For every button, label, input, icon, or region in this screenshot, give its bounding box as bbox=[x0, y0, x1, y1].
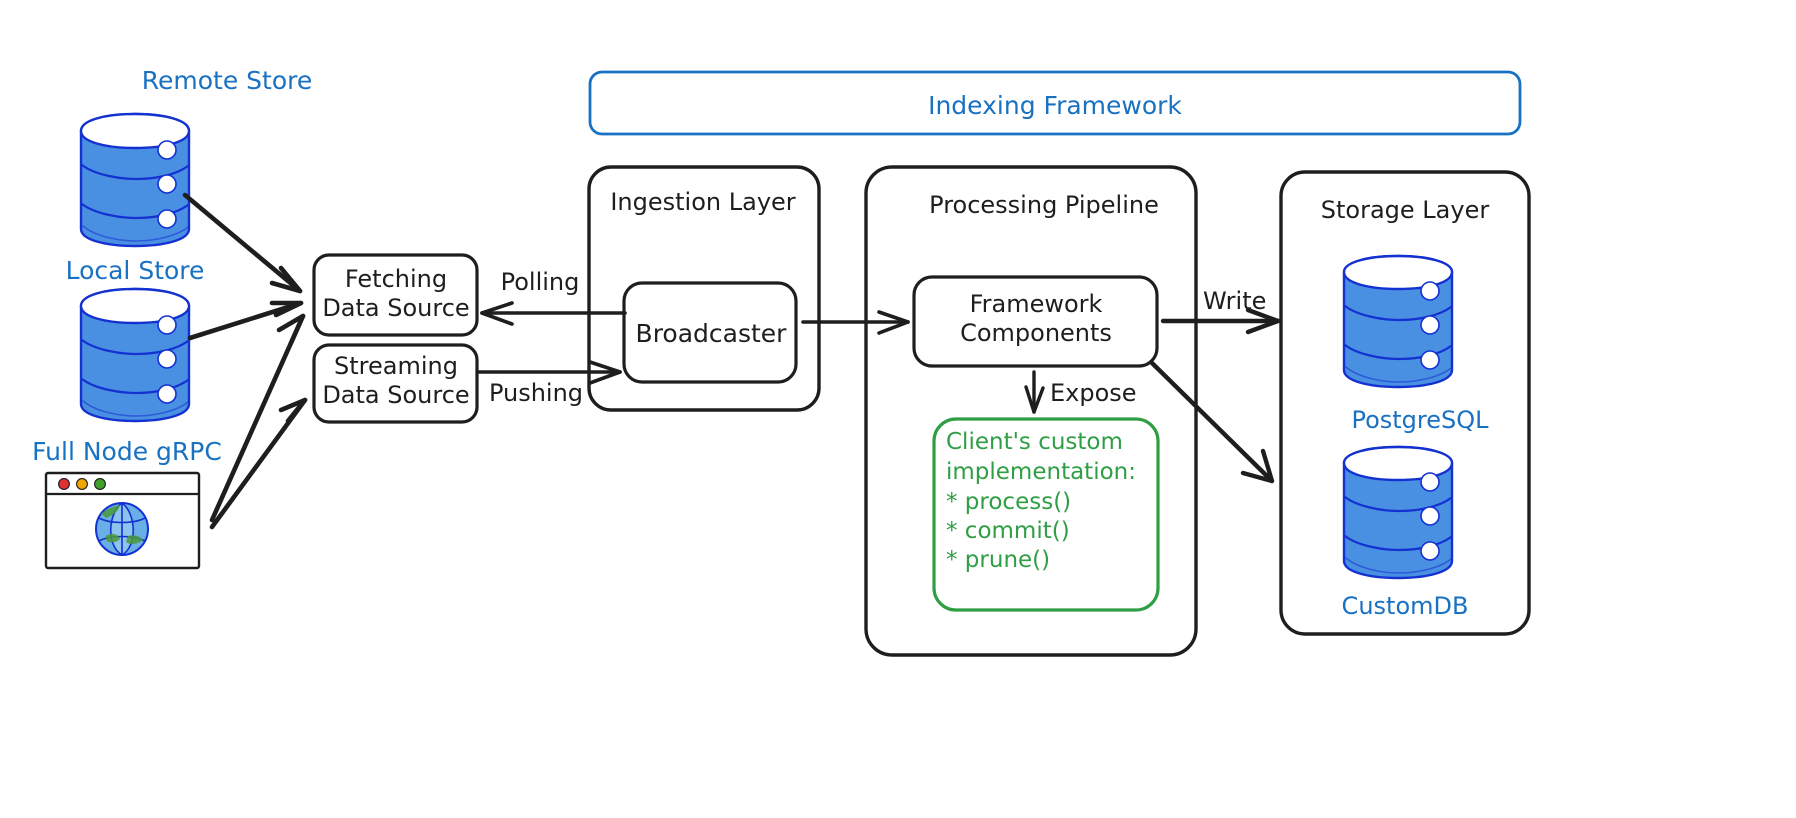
full-node-grpc-label: Full Node gRPC bbox=[32, 437, 222, 468]
custom-impl-commit: * commit() bbox=[946, 517, 1070, 545]
custom-impl-line2: implementation: bbox=[946, 458, 1136, 486]
fetching-data-source-line1: Fetching bbox=[345, 265, 447, 294]
globe-icon bbox=[96, 503, 148, 555]
polling-edge-label: Polling bbox=[501, 268, 580, 297]
local-store-cylinder bbox=[81, 289, 189, 421]
postgresql-cylinder bbox=[1344, 256, 1452, 387]
local-store-label: Local Store bbox=[66, 256, 205, 287]
ingestion-layer-title: Ingestion Layer bbox=[610, 188, 795, 217]
custom-impl-prune: * prune() bbox=[946, 546, 1050, 574]
write-edge-label: Write bbox=[1203, 287, 1266, 316]
remote-store-label: Remote Store bbox=[142, 66, 312, 97]
arrow-local-to-fetching bbox=[190, 303, 301, 338]
processing-pipeline-title: Processing Pipeline bbox=[929, 191, 1159, 220]
remote-store-cylinder bbox=[81, 114, 189, 246]
customdb-cylinder bbox=[1344, 447, 1452, 578]
indexing-framework-title: Indexing Framework bbox=[928, 91, 1182, 122]
custom-impl-process: * process() bbox=[946, 488, 1071, 516]
custom-impl-line1: Client's custom bbox=[946, 428, 1123, 456]
browser-window-globe-icon bbox=[46, 473, 199, 568]
storage-layer-title: Storage Layer bbox=[1321, 196, 1489, 225]
postgresql-label: PostgreSQL bbox=[1351, 406, 1488, 435]
streaming-data-source-line2: Data Source bbox=[322, 381, 469, 410]
streaming-data-source-line1: Streaming bbox=[334, 352, 458, 381]
pushing-edge-label: Pushing bbox=[489, 379, 583, 408]
framework-components-line1: Framework bbox=[970, 290, 1103, 319]
framework-components-line2: Components bbox=[960, 319, 1112, 348]
diagram-vectors bbox=[0, 0, 1796, 818]
expose-edge-label: Expose bbox=[1050, 379, 1137, 408]
diagram-canvas: Remote Store Local Store Full Node gRPC … bbox=[0, 0, 1796, 818]
broadcaster-label: Broadcaster bbox=[636, 319, 787, 350]
customdb-label: CustomDB bbox=[1342, 592, 1469, 621]
fetching-data-source-line2: Data Source bbox=[322, 294, 469, 323]
